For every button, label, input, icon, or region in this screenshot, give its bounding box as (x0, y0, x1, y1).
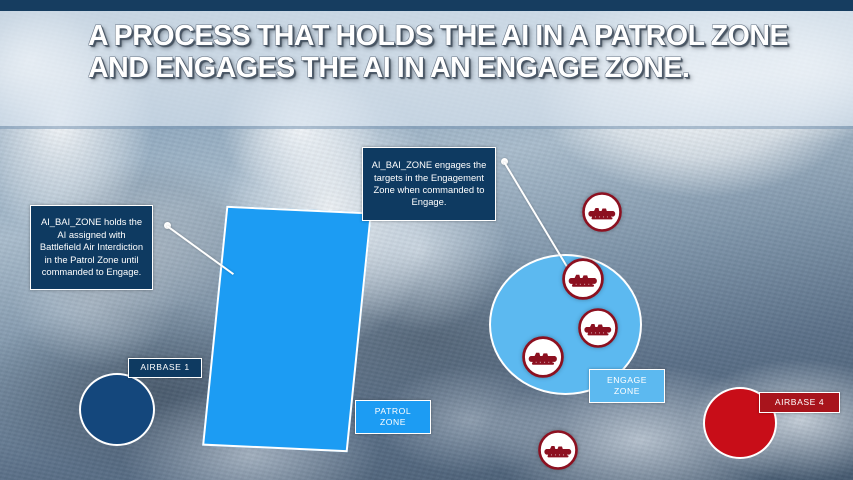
label-airbase-1[interactable]: AIRBASE 1 (128, 358, 202, 378)
airbase-1-shape[interactable] (79, 373, 155, 446)
label-patrol-zone[interactable]: PATROL ZONE (355, 400, 431, 434)
label-airbase-1-text: AIRBASE 1 (140, 362, 189, 374)
callout-box-patrol[interactable]: AI_BAI_ZONE holds the AI assigned with B… (30, 205, 153, 290)
top-accent-bar (0, 0, 853, 11)
title-band-edge (0, 126, 853, 129)
page-title: A PROCESS THAT HOLDS THE AI IN A PATROL … (88, 20, 818, 84)
label-engage-zone-line1: ENGAGE (607, 375, 647, 387)
slide-canvas: A PROCESS THAT HOLDS THE AI IN A PATROL … (0, 0, 853, 480)
label-patrol-zone-line1: PATROL (375, 406, 411, 418)
label-airbase-4[interactable]: AIRBASE 4 (759, 392, 840, 413)
target-tank-icon-1[interactable] (582, 192, 622, 232)
label-airbase-4-text: AIRBASE 4 (775, 397, 824, 409)
target-tank-icon-3[interactable] (578, 308, 618, 348)
callout-box-engage[interactable]: AI_BAI_ZONE engages the targets in the E… (362, 147, 496, 221)
label-patrol-zone-line2: ZONE (375, 417, 411, 429)
label-engage-zone-line2: ZONE (607, 386, 647, 398)
target-tank-icon-5[interactable] (538, 430, 578, 470)
target-tank-icon-4[interactable] (522, 336, 564, 378)
callout-top-text: AI_BAI_ZONE engages the targets in the E… (369, 159, 489, 209)
patrol-zone-shape[interactable] (202, 206, 372, 452)
target-tank-icon-2[interactable] (562, 258, 604, 300)
label-engage-zone[interactable]: ENGAGE ZONE (589, 369, 665, 403)
callout-left-text: AI_BAI_ZONE holds the AI assigned with B… (37, 216, 146, 278)
